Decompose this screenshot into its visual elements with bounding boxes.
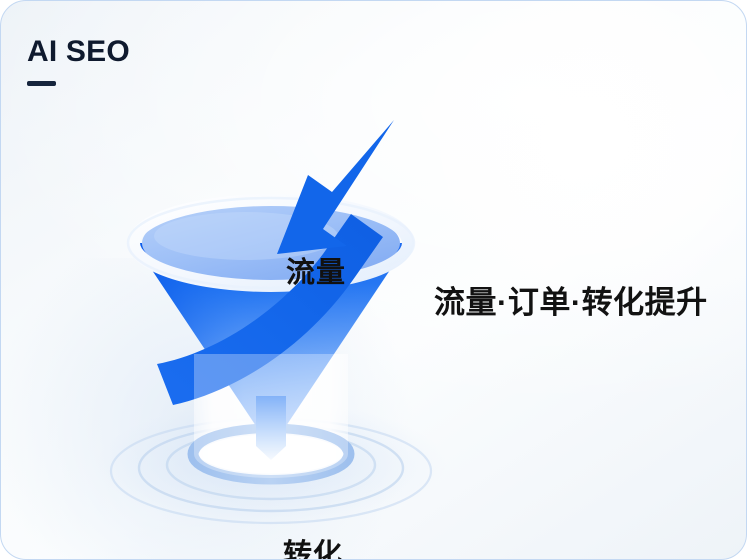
glass-front-face [194,354,348,478]
illustration-canvas: AI SEO [0,0,747,560]
brand-block: AI SEO [27,37,130,86]
headline-text: 流量·订单·转化提升 [434,277,708,322]
label-traffic: 流量 [286,249,346,291]
label-conversion: 转化 [283,531,343,560]
funnel-illustration: 流量 转化 [61,96,481,536]
page-title: AI SEO [27,37,130,67]
title-underline-rule [27,81,56,86]
funnel-svg [61,96,481,536]
